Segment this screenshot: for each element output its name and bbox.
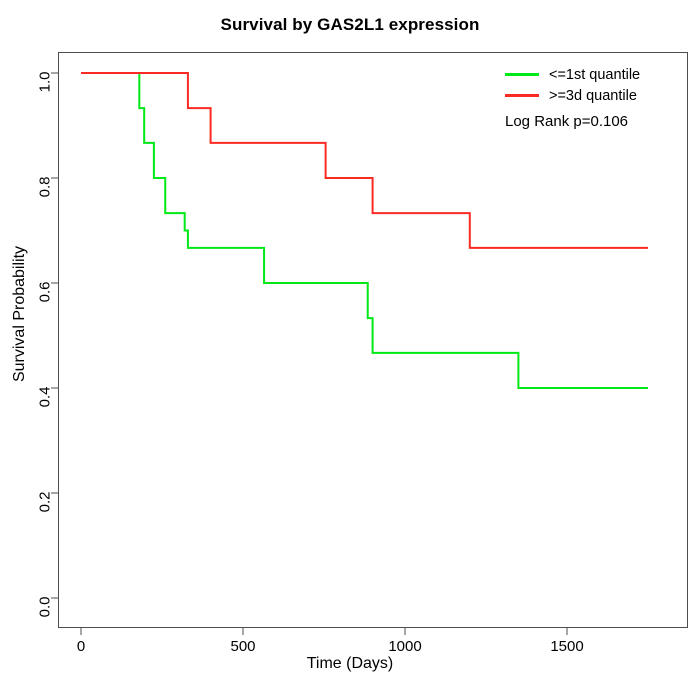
- legend-swatch-high: [505, 94, 539, 97]
- legend-label-low: <=1st quantile: [549, 67, 640, 83]
- x-tick-label-0: 0: [51, 638, 111, 655]
- y-axis-label: Survival Probability: [11, 214, 29, 414]
- y-tick-label-0.8: 0.8: [37, 177, 54, 237]
- x-tick-label-1500: 1500: [537, 638, 597, 655]
- x-tick-label-1000: 1000: [375, 638, 435, 655]
- y-tick-label-0.2: 0.2: [37, 492, 54, 552]
- y-tick-label-0.6: 0.6: [37, 282, 54, 342]
- legend: <=1st quantile >=3d quantile: [505, 64, 685, 106]
- legend-item-low: <=1st quantile: [505, 64, 685, 85]
- y-tick-label-0.4: 0.4: [37, 387, 54, 447]
- y-tick-label-0.0: 0.0: [37, 597, 54, 657]
- legend-label-high: >=3d quantile: [549, 88, 637, 104]
- x-axis-label: Time (Days): [0, 655, 700, 673]
- survival-chart: Survival by GAS2L1 expression 0500100015…: [0, 0, 700, 700]
- x-axis-ticks: [81, 628, 567, 635]
- legend-item-high: >=3d quantile: [505, 85, 685, 106]
- y-tick-label-1.0: 1.0: [37, 72, 54, 132]
- legend-swatch-low: [505, 73, 539, 76]
- log-rank-pvalue: Log Rank p=0.106: [505, 113, 628, 130]
- x-tick-label-500: 500: [213, 638, 273, 655]
